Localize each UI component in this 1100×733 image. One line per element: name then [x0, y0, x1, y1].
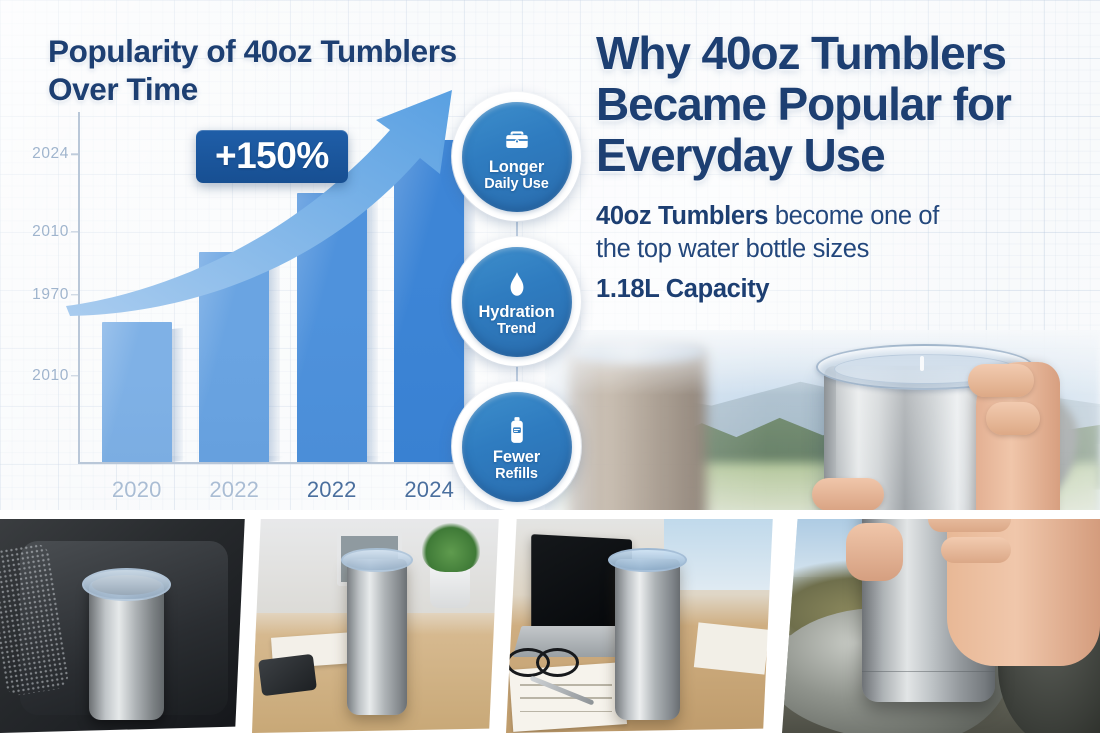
tumbler-body: [347, 559, 407, 715]
photo-scene-car-interior: [0, 510, 248, 733]
y-axis-tick-label: 2010: [32, 367, 69, 385]
chart-title-line-2: Over Time: [48, 70, 518, 108]
bar-highlight: [199, 252, 269, 462]
notepad-line: [520, 697, 612, 699]
y-axis-tick-mark: [71, 375, 78, 376]
bar-column: [102, 322, 172, 462]
bar: [102, 322, 172, 462]
feature-label-line-1: Hydration: [478, 303, 554, 321]
photo-strip: [0, 510, 1100, 733]
subcopy-bold-term: 40oz Tumblers: [596, 202, 768, 230]
feature-badge-hydration-trend[interactable]: Hydration Trend: [452, 237, 581, 366]
feature-label-line-1: Fewer: [493, 448, 540, 466]
y-axis-tick-label: 2010: [32, 223, 69, 241]
photo-scene-office-desk: [252, 510, 502, 733]
hero-hand-finger: [968, 364, 1034, 397]
y-axis-tick-mark: [71, 294, 78, 295]
y-axis-tick-label: 2024: [32, 145, 69, 163]
x-axis-tick-label: 2022: [307, 477, 357, 503]
capacity-text: 1.18L Capacity: [596, 275, 1016, 304]
x-axis-tick-label: 2022: [209, 477, 259, 503]
hand-finger: [941, 537, 1011, 563]
bar-column: [199, 252, 269, 462]
copy-block: Why 40oz Tumblers Became Popular for Eve…: [596, 28, 1076, 304]
chart-title-line-1: Popularity of 40oz Tumblers: [48, 32, 518, 70]
notepad-line: [520, 711, 612, 713]
feature-badge-column: Longer Daily Use Hydration Trend: [452, 92, 582, 517]
feature-badge-longer-daily-use[interactable]: Longer Daily Use: [452, 92, 581, 221]
hand: [947, 510, 1100, 666]
tumbler-body: [615, 559, 680, 720]
headline: Why 40oz Tumblers Became Popular for Eve…: [596, 28, 1076, 181]
y-axis-tick-mark: [71, 231, 78, 232]
bar-column: [297, 193, 367, 463]
photo-tumbler-beside-laptop: [506, 510, 778, 733]
feature-badge-label: Fewer Refills: [493, 449, 540, 482]
infographic-canvas: Popularity of 40oz Tumblers Over Time 20…: [0, 0, 1100, 733]
photo-tumbler-on-office-desk: [252, 510, 502, 733]
window-light: [664, 510, 778, 590]
tumbler-body: [89, 581, 163, 719]
desk-phone: [258, 654, 317, 696]
feature-label-line-2: Refills: [493, 467, 540, 483]
hero-hand-finger: [812, 478, 884, 511]
photo-tumbler-in-car-cup-holder: [0, 510, 248, 733]
chart-title: Popularity of 40oz Tumblers Over Time: [48, 32, 518, 108]
photo-scene-laptop-workspace: [506, 510, 778, 733]
headline-line-1: Why 40oz Tumblers: [596, 28, 1076, 79]
feature-label-line-2: Trend: [478, 322, 554, 338]
headline-line-3: Everyday Use: [596, 130, 1076, 181]
photo-strip-top-edge: [0, 510, 1100, 519]
subcopy: 40oz Tumblers become one of the top wate…: [596, 200, 1016, 304]
subcopy-rest: become one of: [768, 202, 939, 230]
open-book: [694, 622, 769, 674]
bottle-icon: [502, 415, 532, 445]
hero-hand-finger: [986, 402, 1040, 435]
hero-tumbler-lid-nub: [920, 356, 924, 371]
feature-badge-label: Longer Daily Use: [484, 159, 548, 192]
bar: [199, 252, 269, 462]
feature-badge-fewer-refills[interactable]: Fewer Refills: [452, 382, 581, 511]
feature-badge-label: Hydration Trend: [478, 304, 554, 337]
bar-highlight: [297, 193, 367, 463]
bar: [297, 193, 367, 463]
bar-highlight: [102, 322, 172, 462]
briefcase-icon: [502, 125, 532, 155]
desk-plant: [422, 523, 480, 572]
photo-scene-outdoor-rock: [782, 510, 1100, 733]
notepad-line: [520, 684, 612, 686]
y-axis-tick-mark: [71, 154, 78, 155]
water-drop-icon: [502, 270, 532, 300]
feature-label-line-1: Longer: [489, 158, 544, 176]
headline-line-2: Became Popular for: [596, 79, 1076, 130]
photo-hand-holding-tumbler-outdoors: [782, 510, 1100, 733]
tumbler-ring: [862, 671, 996, 673]
x-axis-tick-label: 2024: [404, 477, 454, 503]
x-axis-tick-label: 2020: [112, 477, 162, 503]
growth-percentage-badge: +150%: [196, 130, 348, 183]
hand-thumb: [846, 523, 903, 581]
feature-label-line-2: Daily Use: [484, 177, 548, 193]
y-axis-line: [78, 112, 80, 464]
y-axis-tick-label: 1970: [32, 286, 69, 304]
subcopy-line-1: 40oz Tumblers become one of: [596, 200, 1016, 233]
subcopy-line-2: the top water bottle sizes: [596, 233, 1016, 266]
